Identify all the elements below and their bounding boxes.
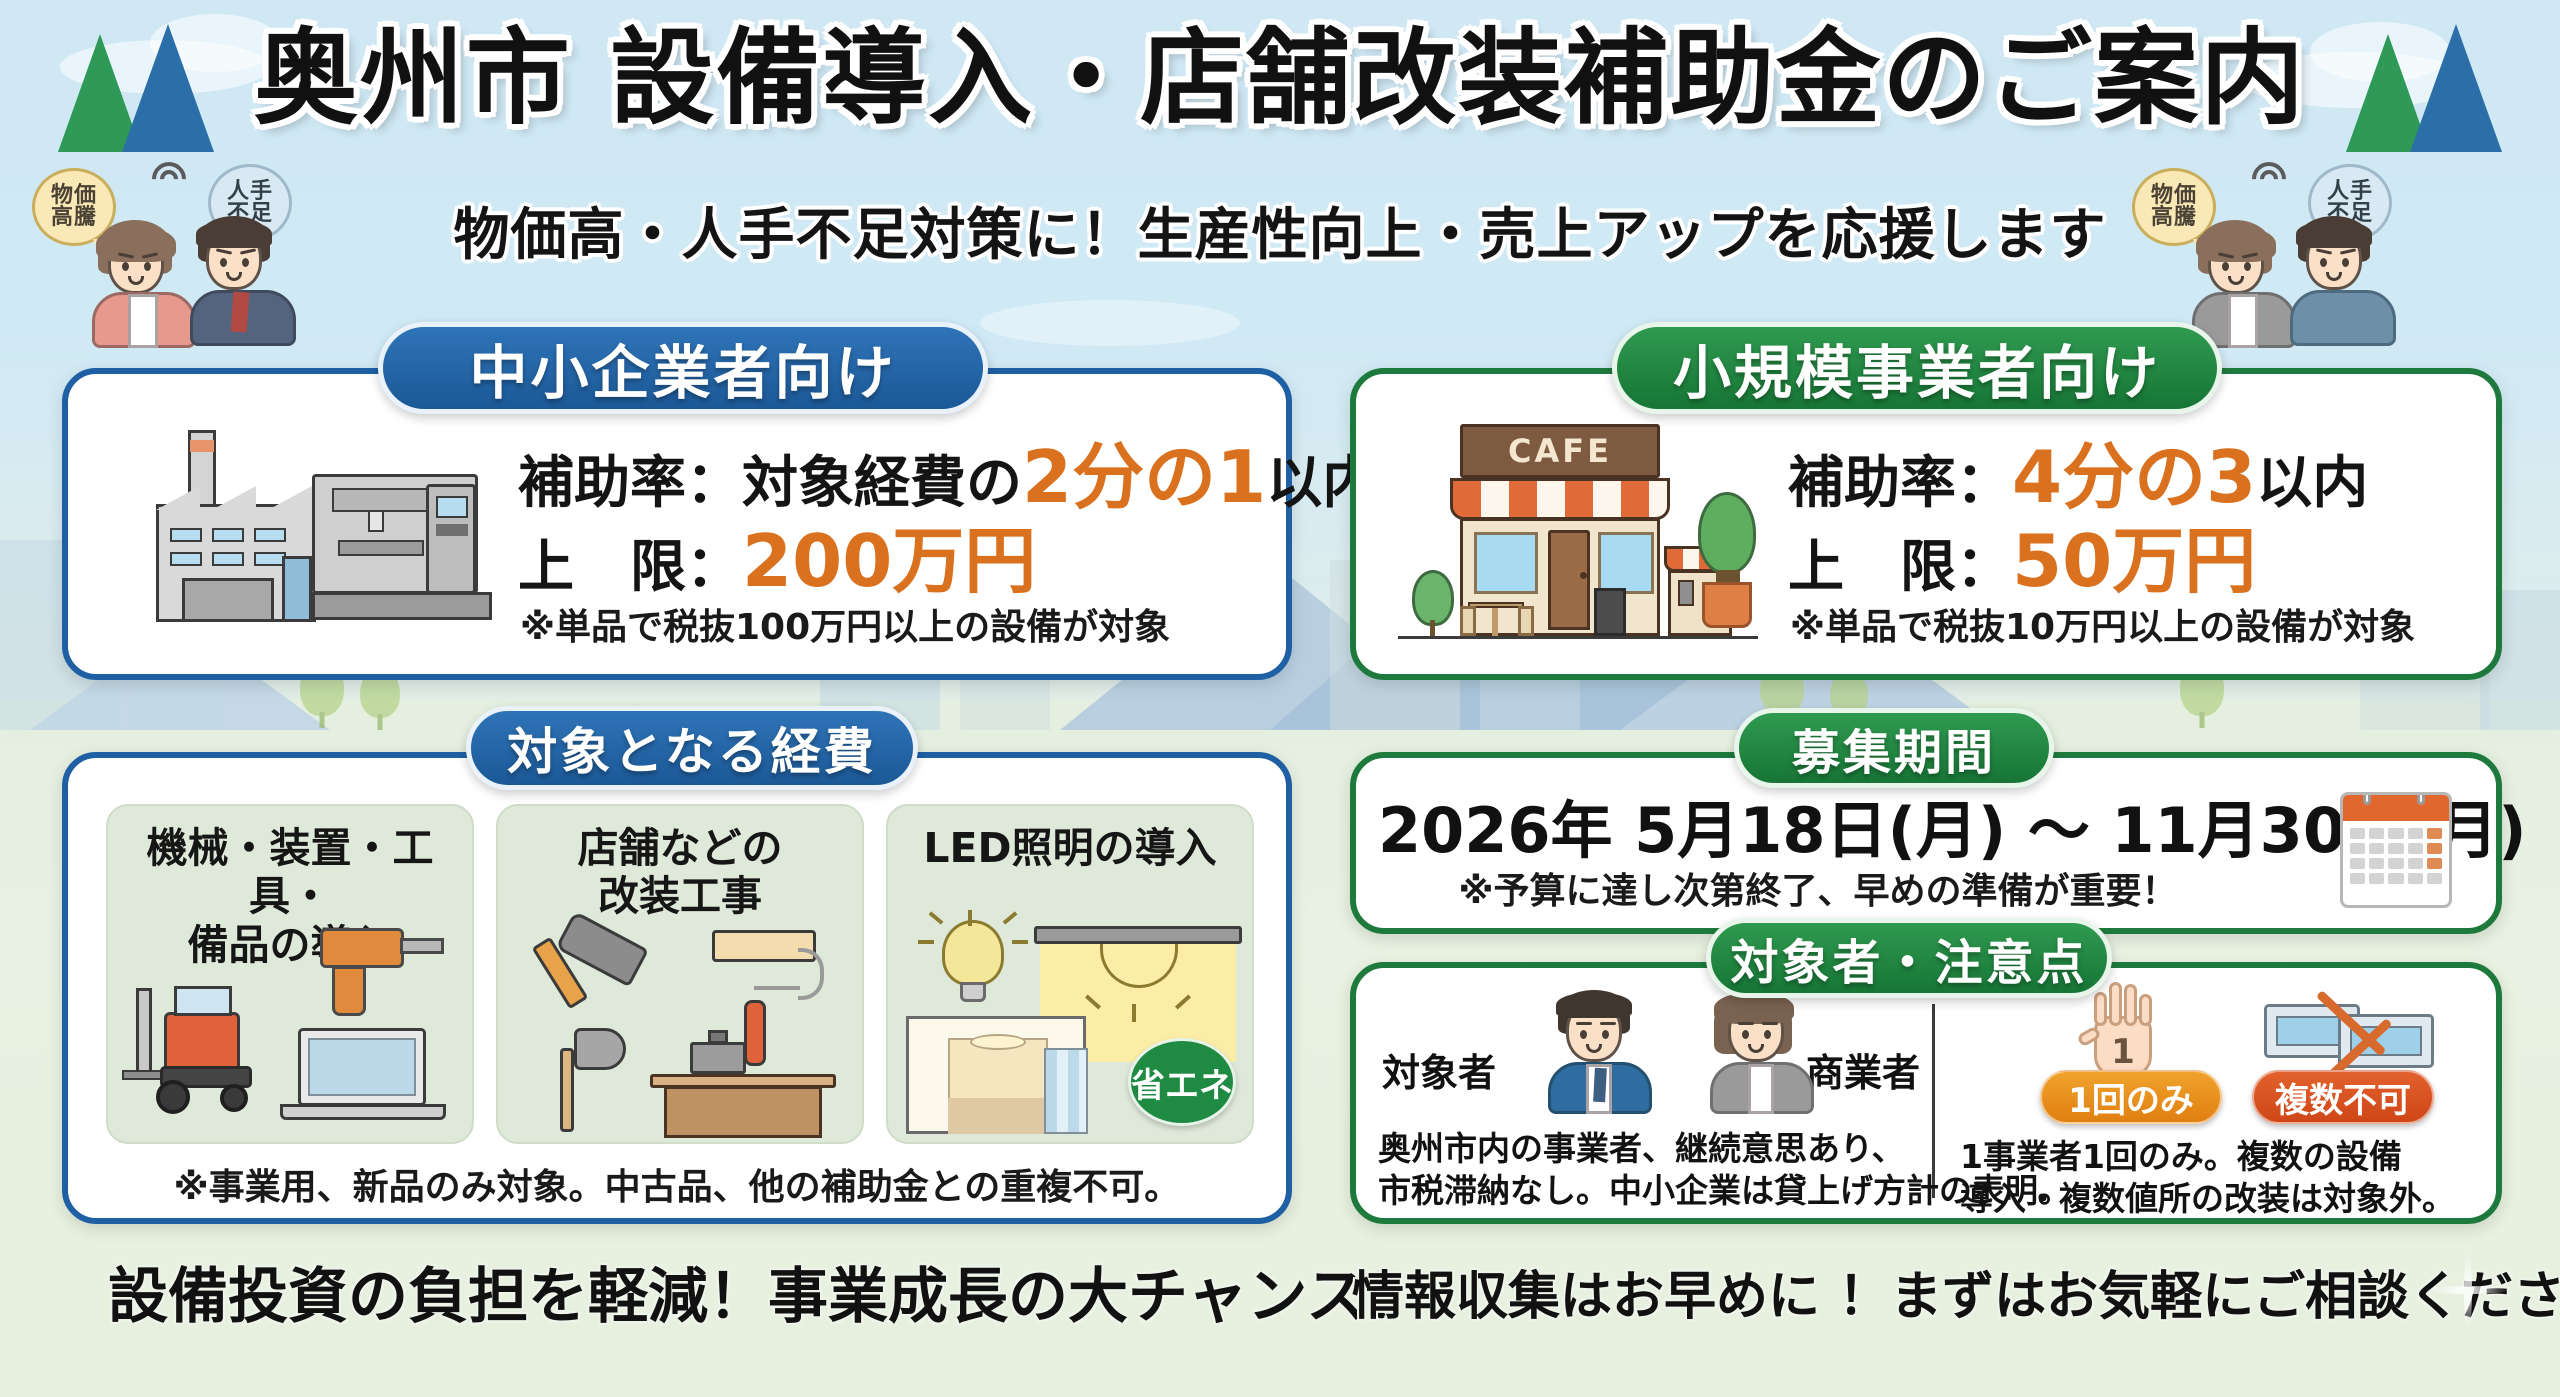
small-limit-line: 上 限：50万円 — [1788, 502, 2256, 607]
worried-people-right: 物価 高騰 人手 不足 — [2132, 168, 2432, 343]
factory-and-machine-icon — [126, 426, 496, 636]
page-subtitle: 物価高・人手不足対策に！生産性向上・売上アップを応援します — [430, 190, 2130, 271]
cautions-text-line2: 導入・複数値所の改装は対象外。 — [1960, 1172, 2455, 1220]
businessman-avatar — [1542, 990, 1662, 1114]
eligibility-text-line1: 奥州市内の事業者、継続意思あり、 — [1378, 1122, 1905, 1170]
sme-note: ※単品で税抜100万円以上の設備が対象 — [520, 598, 1170, 650]
small-rate-suffix: 以内 — [2256, 451, 2368, 516]
eligible-expenses-card: 機械・装置・工具・ 備品の導入 店舗など — [62, 752, 1292, 1224]
footer-left-text: 設備投資の負担を軽減！事業成長の大チャンス！ — [108, 1248, 1426, 1335]
labor-bubble-line1: 人手 — [227, 181, 273, 203]
sme-subsidy-card: 補助率：対象経費の2分の1以内 上 限：200万円 ※単品で税抜100万円以上の… — [62, 368, 1292, 680]
period-note: ※予算に達し次第終了、早めの準備が重要！ — [1378, 862, 2258, 914]
eco-badge: 省エネ — [1128, 1038, 1236, 1126]
expense-item-1[interactable]: 機械・装置・工具・ 備品の導入 — [106, 804, 474, 1144]
labor-bubble-line1: 人手 — [2327, 181, 2373, 203]
businesswoman-avatar — [1704, 990, 1824, 1114]
expenses-note: ※事業用、新品のみ対象。中古品、他の補助金との重複不可。 — [68, 1158, 1286, 1210]
crossed-equipment-icon — [2264, 990, 2444, 1078]
tab-application-period[interactable]: 募集期間 — [1734, 708, 2054, 788]
eligibility-label-left: 対象者 — [1382, 1042, 1496, 1097]
expense-item-2[interactable]: 店舗などの 改装工事 — [496, 804, 864, 1144]
forklift-drill-laptop-icon — [108, 924, 476, 1140]
sme-limit-prefix: 上 限： — [518, 535, 742, 600]
tab-eligible-expenses[interactable]: 対象となる経費 — [466, 706, 918, 790]
sme-limit-line: 上 限：200万円 — [518, 502, 1036, 607]
oshu-city-logo-left — [52, 22, 222, 152]
tab-eligibility-cautions[interactable]: 対象者・注意点 — [1706, 918, 2112, 998]
small-limit-value: 50万円 — [2012, 519, 2256, 603]
open-hand-icon: 1 — [2078, 980, 2168, 1084]
poster-root: 奥州市 設備導入・店舗改装補助金のご案内 物価高・人手不足対策に！生産性向上・売… — [0, 0, 2560, 1397]
eligibility-card: 対象者 商業者 — [1350, 962, 2502, 1224]
worried-man-avatar-left — [184, 216, 308, 344]
sme-rate-value: 2分の1 — [1022, 435, 1266, 519]
page-title: 奥州市 設備導入・店舗改装補助金のご案内 — [220, 22, 2340, 134]
price-bubble-line1: 物価 — [2151, 185, 2197, 207]
tab-sme[interactable]: 中小企業者向け — [378, 322, 988, 414]
small-business-card: CAFE — [1350, 368, 2502, 680]
cautions-right: 1 1回のみ 複数不可 1事業者1回のみ。複数の設備 導入・複数値所の改装は対象… — [1956, 984, 2492, 1216]
period-value: 2026年 5月18日(月) ～ 11月30日(月) — [1378, 780, 2258, 870]
footer-right-text: 情報収集はお早めに ！まずはお気軽にご相談ください。 — [1352, 1254, 2560, 1329]
tab-small-business[interactable]: 小規模事業者向け — [1612, 322, 2222, 414]
worried-people-left: 物価 高騰 人手 不足 — [32, 168, 332, 343]
eligibility-left: 対象者 商業者 — [1374, 984, 1926, 1216]
expense-item-2-title: 店舗などの 改装工事 — [498, 824, 862, 921]
small-limit-prefix: 上 限： — [1788, 535, 2012, 600]
poster-header: 奥州市 設備導入・店舗改装補助金のご案内 物価高・人手不足対策に！生産性向上・売… — [0, 0, 2560, 330]
expense-item-3[interactable]: LED照明の導入 — [886, 804, 1254, 1144]
price-bubble-line1: 物価 — [51, 185, 97, 207]
cautions-text-line1: 1事業者1回のみ。複数の設備 — [1960, 1130, 2402, 1178]
badge-once-only: 1回のみ — [2040, 1070, 2222, 1124]
hand-number: 1 — [2078, 1032, 2168, 1072]
sme-limit-value: 200万円 — [742, 519, 1036, 603]
worried-man-avatar-right — [2284, 216, 2408, 344]
small-note: ※単品で税抜10万円以上の設備が対象 — [1790, 598, 2415, 650]
cafe-storefront-icon: CAFE — [1398, 420, 1758, 642]
hammer-axe-roller-counter-icon — [498, 924, 866, 1140]
sparkle-icon — [2428, 1250, 2508, 1330]
calendar-icon — [2340, 792, 2452, 908]
badge-no-multiple: 複数不可 — [2252, 1070, 2434, 1124]
expense-item-3-title: LED照明の導入 — [888, 824, 1252, 872]
cafe-sign-text: CAFE — [1460, 424, 1660, 478]
oshu-city-logo-right — [2340, 22, 2510, 152]
